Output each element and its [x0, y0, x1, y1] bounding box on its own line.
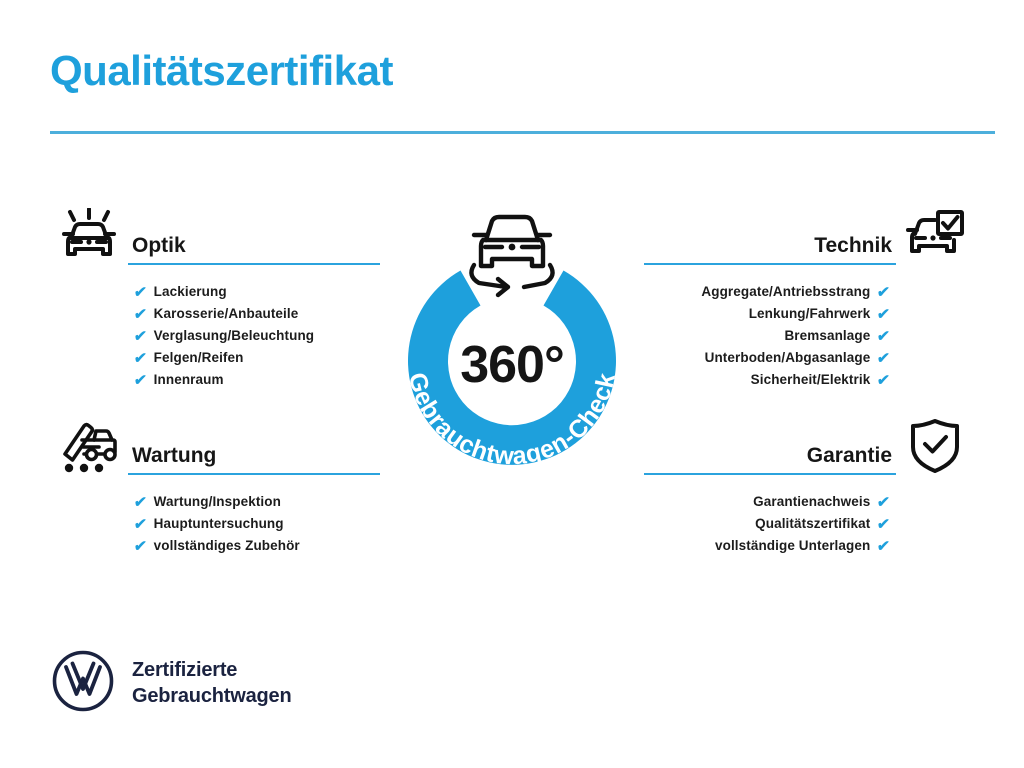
list-item: ✔Sicherheit/Elektrik: [644, 369, 974, 391]
vw-lockup-line2: Gebrauchtwagen: [132, 684, 291, 710]
list-item: ✔Felgen/Reifen: [50, 347, 380, 369]
section-technik: Technik ✔Aggregate/Antriebsstrang ✔Lenku…: [644, 205, 974, 391]
section-title-wrap-optik: Optik: [128, 234, 380, 267]
check-icon: ✔: [877, 329, 891, 344]
section-title: Technik: [644, 234, 896, 263]
check-icon: ✔: [133, 329, 147, 344]
list-item-label: Wartung/Inspektion: [154, 495, 281, 509]
list-item-label: Lackierung: [154, 285, 227, 299]
check-icon: ✔: [877, 373, 891, 388]
list-item-label: Bremsanlage: [784, 329, 870, 343]
check-icon: ✔: [877, 539, 891, 554]
section-underline: [644, 263, 896, 265]
list-item-label: Aggregate/Antriebsstrang: [701, 285, 870, 299]
list-item: ✔Garantienachweis: [644, 491, 974, 513]
section-underline: [128, 473, 380, 475]
list-item: ✔Lenkung/Fahrwerk: [644, 303, 974, 325]
checklist-optik: ✔Lackierung ✔Karosserie/Anbauteile ✔Verg…: [50, 281, 380, 391]
shield-check-icon: [896, 415, 974, 477]
list-item-label: vollständiges Zubehör: [154, 539, 300, 553]
volkswagen-logo: [52, 650, 114, 717]
list-item-label: Hauptuntersuchung: [154, 517, 284, 531]
list-item-label: Qualitätszertifikat: [755, 517, 870, 531]
list-item: ✔vollständige Unterlagen: [644, 535, 974, 557]
list-item-label: Innenraum: [154, 373, 224, 387]
check-icon: ✔: [133, 373, 147, 388]
section-title-wrap-garantie: Garantie: [644, 444, 896, 477]
badge-degree-label: 360°: [372, 339, 652, 391]
check-icon: ✔: [877, 285, 891, 300]
section-garantie: Garantie ✔Garantienachweis ✔Qualitätszer…: [644, 415, 974, 557]
checklist-garantie: ✔Garantienachweis ✔Qualitätszertifikat ✔…: [644, 491, 974, 557]
vw-lockup-text: Zertifizierte Gebrauchtwagen: [132, 658, 291, 709]
section-title-wrap-wartung: Wartung: [128, 444, 380, 477]
list-item: ✔Aggregate/Antriebsstrang: [644, 281, 974, 303]
check-icon: ✔: [133, 285, 147, 300]
car-service-lift-icon: [50, 415, 128, 477]
certificate-page: Qualitätszertifikat: [0, 0, 1024, 768]
list-item-label: Felgen/Reifen: [154, 351, 244, 365]
section-header-garantie: Garantie: [644, 415, 974, 477]
check-icon: ✔: [133, 517, 147, 532]
check-icon: ✔: [877, 495, 891, 510]
vw-certified-lockup: Zertifizierte Gebrauchtwagen: [52, 650, 291, 717]
list-item-label: Karosserie/Anbauteile: [154, 307, 299, 321]
section-header-optik: Optik: [50, 205, 380, 267]
vw-lockup-line1: Zertifizierte: [132, 658, 291, 684]
section-underline: [128, 263, 380, 265]
list-item: ✔vollständiges Zubehör: [50, 535, 380, 557]
list-item: ✔Wartung/Inspektion: [50, 491, 380, 513]
title-divider: [50, 131, 995, 134]
list-item-label: Lenkung/Fahrwerk: [749, 307, 871, 321]
list-item: ✔Lackierung: [50, 281, 380, 303]
list-item-label: Verglasung/Beleuchtung: [154, 329, 314, 343]
section-title: Wartung: [128, 444, 380, 473]
list-item: ✔Verglasung/Beleuchtung: [50, 325, 380, 347]
list-item-label: vollständige Unterlagen: [715, 539, 870, 553]
list-item: ✔Bremsanlage: [644, 325, 974, 347]
section-header-wartung: Wartung: [50, 415, 380, 477]
section-optik: Optik ✔Lackierung ✔Karosserie/Anbauteile…: [50, 205, 380, 391]
section-title: Optik: [128, 234, 380, 263]
list-item-label: Unterboden/Abgasanlage: [705, 351, 871, 365]
section-underline: [644, 473, 896, 475]
list-item-label: Garantienachweis: [753, 495, 870, 509]
car-rotation-icon: [454, 203, 570, 303]
section-title-wrap-technik: Technik: [644, 234, 896, 267]
check-icon: ✔: [877, 517, 891, 532]
checklist-wartung: ✔Wartung/Inspektion ✔Hauptuntersuchung ✔…: [50, 491, 380, 557]
list-item: ✔Unterboden/Abgasanlage: [644, 347, 974, 369]
check-icon: ✔: [133, 539, 147, 554]
check-icon: ✔: [877, 351, 891, 366]
list-item: ✔Innenraum: [50, 369, 380, 391]
section-title: Garantie: [644, 444, 896, 473]
check-icon: ✔: [133, 495, 147, 510]
car-shine-icon: [50, 205, 128, 267]
checklist-technik: ✔Aggregate/Antriebsstrang ✔Lenkung/Fahrw…: [644, 281, 974, 391]
badge-360-gebrauchtwagen-check: Gebrauchtwagen-Check 360°: [372, 200, 652, 490]
check-icon: ✔: [133, 307, 147, 322]
check-icon: ✔: [877, 307, 891, 322]
list-item: ✔Karosserie/Anbauteile: [50, 303, 380, 325]
car-checkbox-icon: [896, 205, 974, 267]
list-item: ✔Hauptuntersuchung: [50, 513, 380, 535]
page-title: Qualitätszertifikat: [50, 48, 393, 94]
list-item: ✔Qualitätszertifikat: [644, 513, 974, 535]
list-item-label: Sicherheit/Elektrik: [751, 373, 871, 387]
section-header-technik: Technik: [644, 205, 974, 267]
section-wartung: Wartung ✔Wartung/Inspektion ✔Hauptunters…: [50, 415, 380, 557]
check-icon: ✔: [133, 351, 147, 366]
